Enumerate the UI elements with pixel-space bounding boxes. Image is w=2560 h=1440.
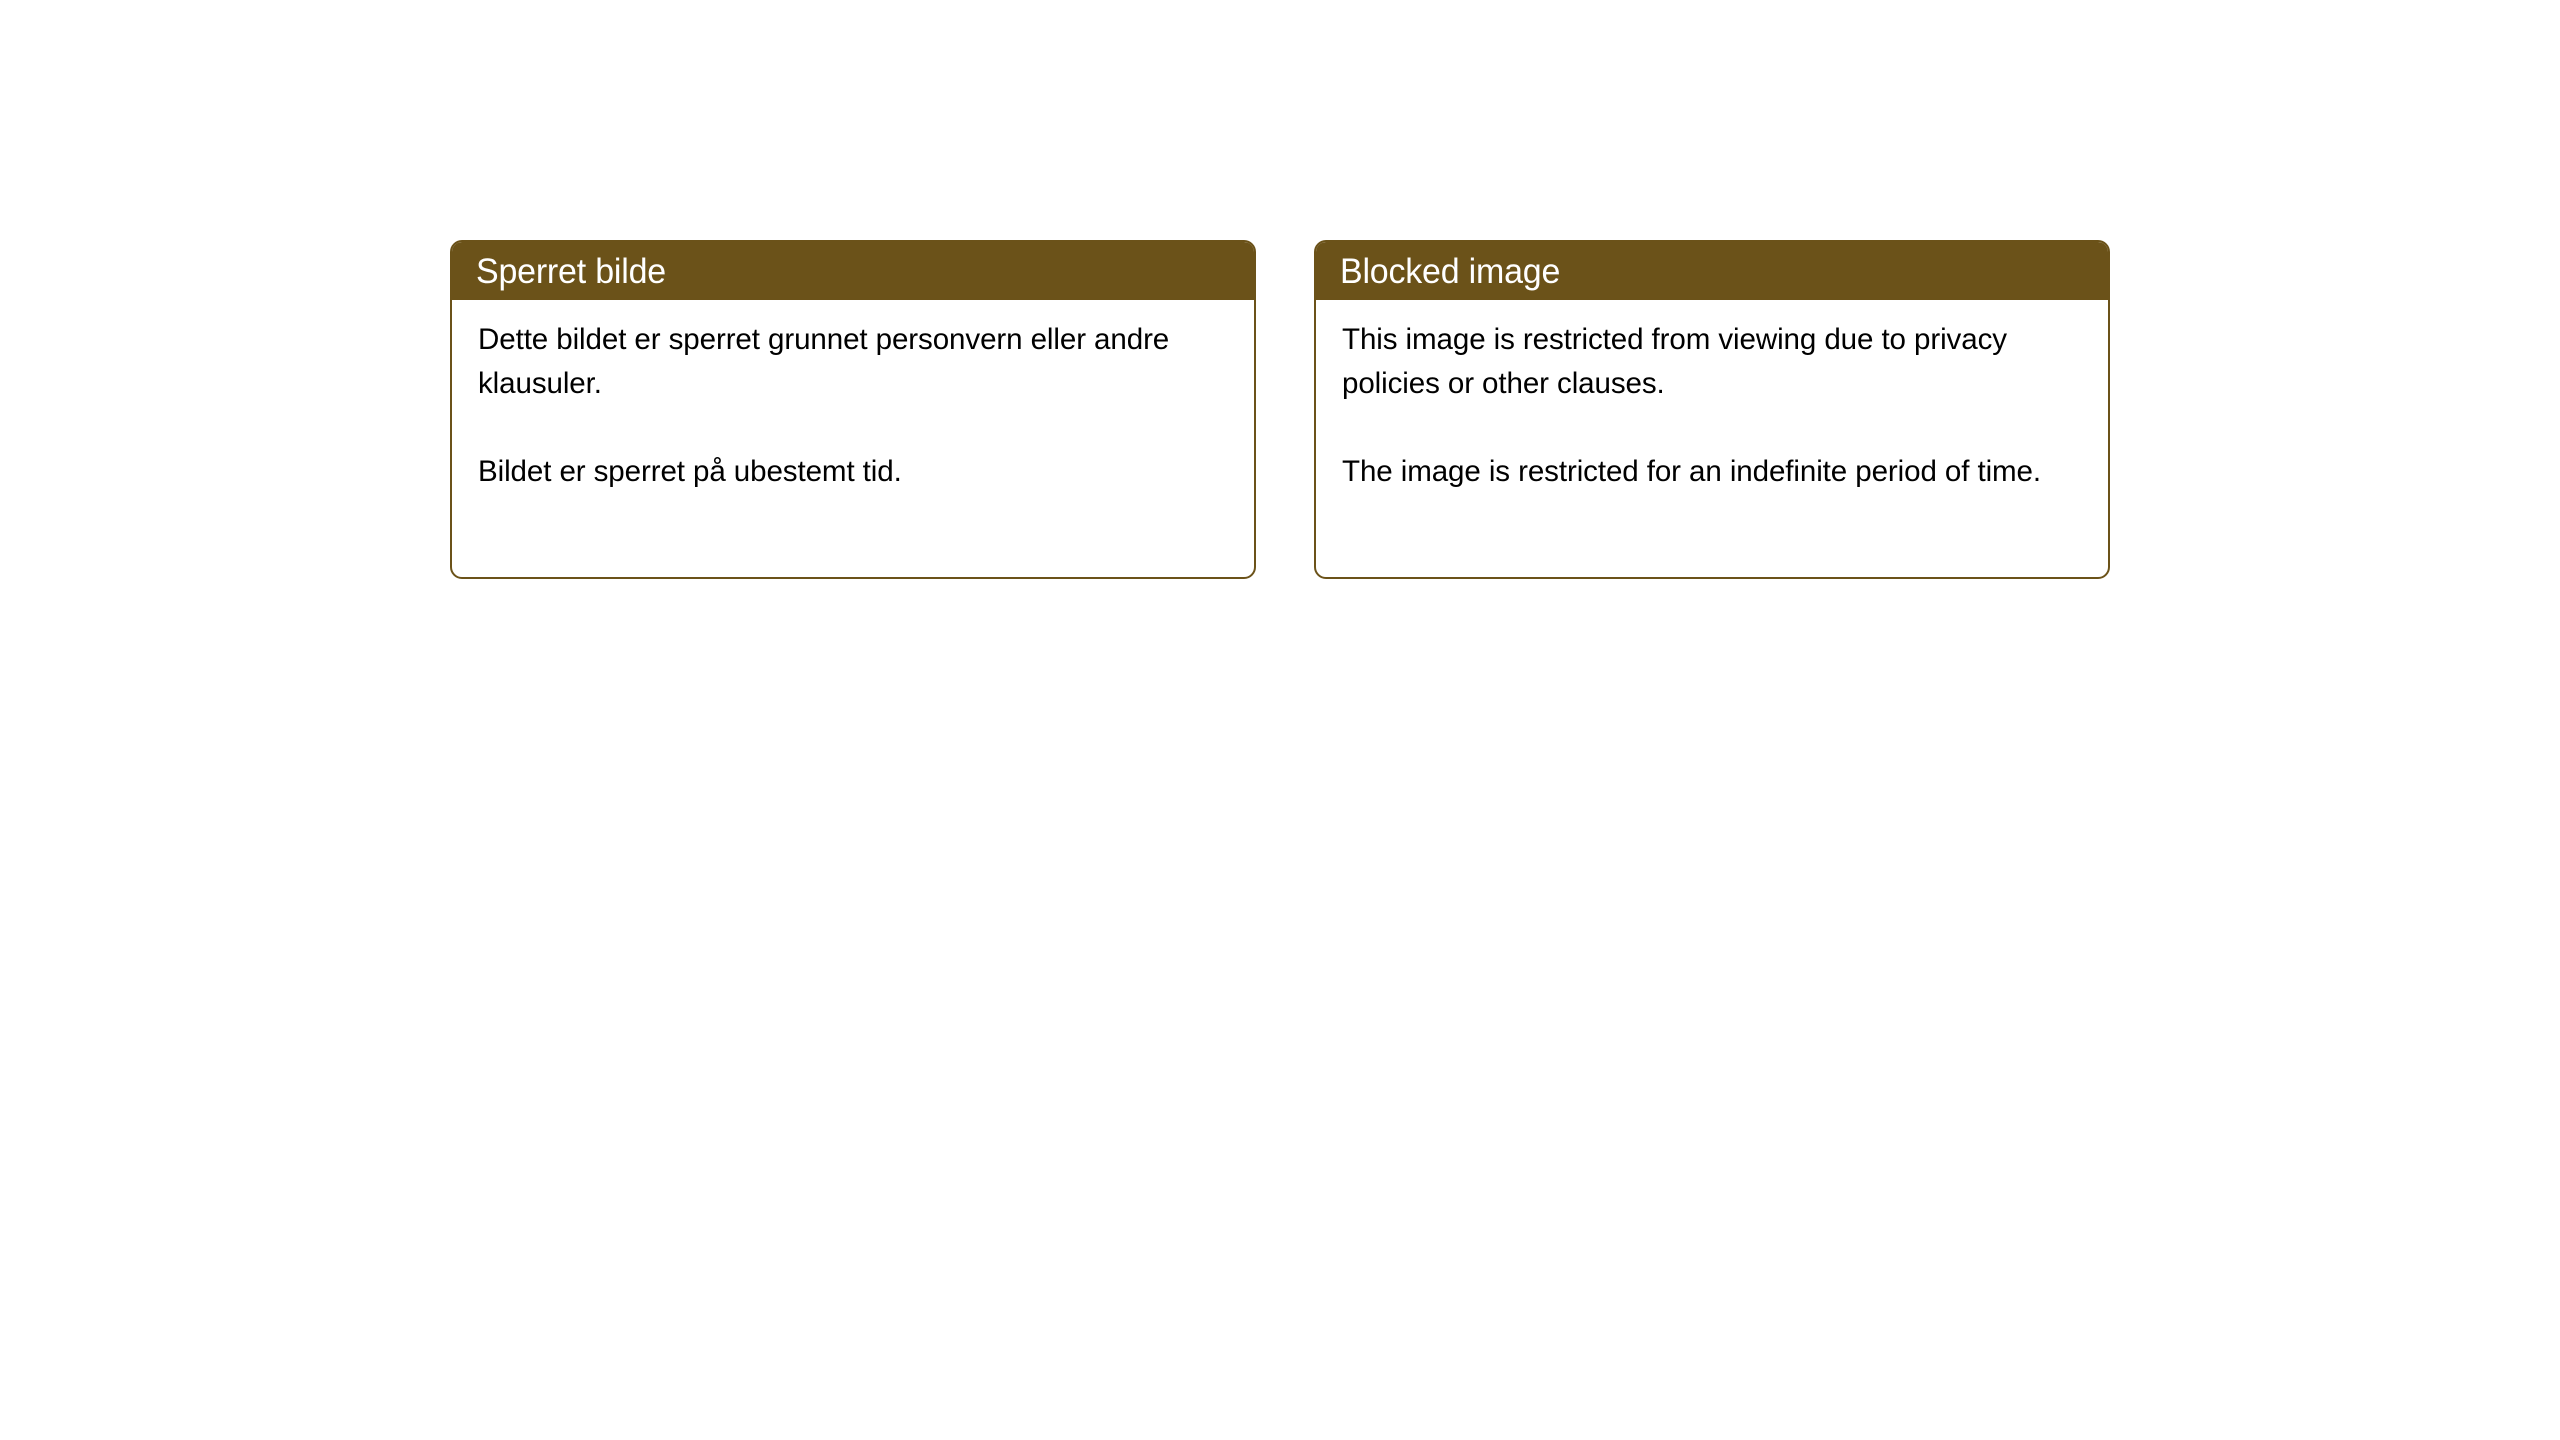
card-body: This image is restricted from viewing du… (1316, 300, 2108, 514)
card-paragraph-primary: This image is restricted from viewing du… (1342, 318, 2073, 406)
blocked-image-notice-card-english: Blocked image This image is restricted f… (1314, 240, 2110, 579)
card-title: Blocked image (1340, 254, 1560, 289)
card-header: Sperret bilde (452, 242, 1254, 300)
card-body: Dette bildet er sperret grunnet personve… (452, 300, 1254, 514)
card-paragraph-secondary: The image is restricted for an indefinit… (1342, 450, 2073, 494)
card-header: Blocked image (1316, 242, 2108, 300)
card-paragraph-primary: Dette bildet er sperret grunnet personve… (478, 318, 1219, 406)
page-canvas: Sperret bilde Dette bildet er sperret gr… (0, 0, 2560, 1440)
blocked-image-notice-card-norwegian: Sperret bilde Dette bildet er sperret gr… (450, 240, 1256, 579)
card-title: Sperret bilde (476, 254, 666, 289)
card-paragraph-secondary: Bildet er sperret på ubestemt tid. (478, 450, 1219, 494)
